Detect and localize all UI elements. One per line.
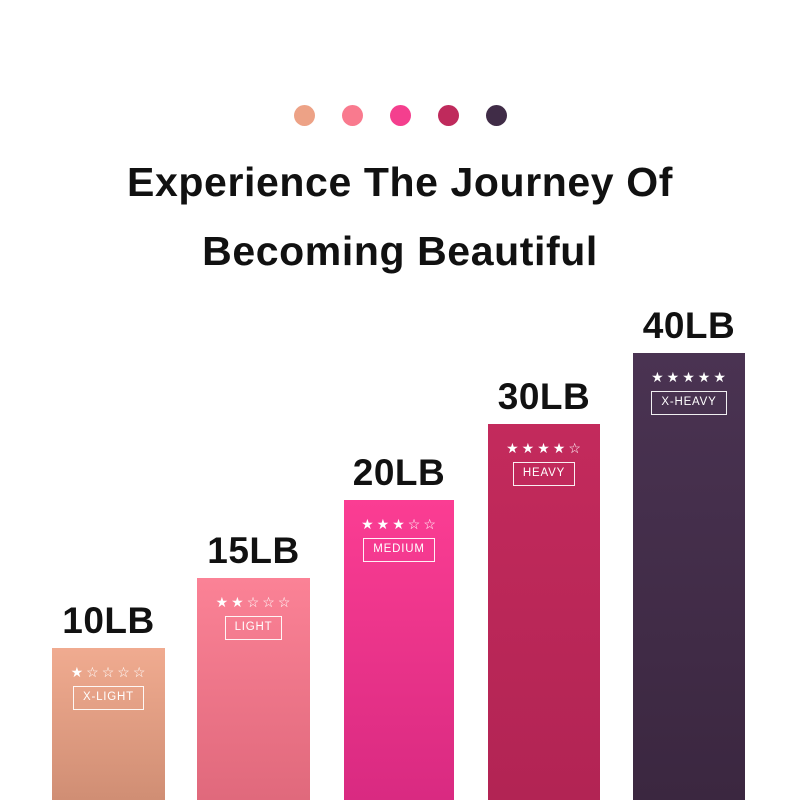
star-filled-icon: ★ bbox=[682, 370, 696, 384]
star-rating: ★★★★★ bbox=[651, 370, 727, 384]
star-filled-icon: ★ bbox=[713, 370, 727, 384]
level-badge: MEDIUM bbox=[363, 538, 434, 562]
star-filled-icon: ★ bbox=[522, 441, 536, 455]
bar-weight-label: 40LB bbox=[633, 307, 745, 344]
bar-group-30lb[interactable]: 30LB★★★★☆HEAVY bbox=[488, 424, 600, 800]
star-empty-icon: ☆ bbox=[86, 665, 100, 679]
star-filled-icon: ★ bbox=[537, 441, 551, 455]
bar-content: ★★☆☆☆LIGHT bbox=[197, 578, 310, 640]
level-badge: LIGHT bbox=[225, 616, 283, 640]
level-badge: HEAVY bbox=[513, 462, 575, 486]
bar-weight-label: 20LB bbox=[344, 454, 454, 491]
star-empty-icon: ☆ bbox=[117, 665, 131, 679]
star-filled-icon: ★ bbox=[71, 665, 85, 679]
star-empty-icon: ☆ bbox=[133, 665, 147, 679]
level-badge: X-HEAVY bbox=[651, 391, 726, 415]
star-filled-icon: ★ bbox=[651, 370, 665, 384]
star-empty-icon: ☆ bbox=[568, 441, 582, 455]
bar-content: ★★★☆☆MEDIUM bbox=[344, 500, 454, 562]
bar-light[interactable]: ★★☆☆☆LIGHT bbox=[197, 578, 310, 800]
bar-fill bbox=[633, 353, 745, 800]
bar-group-20lb[interactable]: 20LB★★★☆☆MEDIUM bbox=[344, 500, 454, 800]
star-filled-icon: ★ bbox=[377, 517, 391, 531]
star-rating: ★☆☆☆☆ bbox=[71, 665, 147, 679]
star-filled-icon: ★ bbox=[553, 441, 567, 455]
star-rating: ★★☆☆☆ bbox=[216, 595, 292, 609]
bar-medium[interactable]: ★★★☆☆MEDIUM bbox=[344, 500, 454, 800]
star-empty-icon: ☆ bbox=[278, 595, 292, 609]
infographic-root: Experience The Journey Of Becoming Beaut… bbox=[0, 0, 800, 800]
bar-weight-label: 10LB bbox=[52, 602, 165, 639]
star-filled-icon: ★ bbox=[231, 595, 245, 609]
star-filled-icon: ★ bbox=[392, 517, 406, 531]
star-empty-icon: ☆ bbox=[102, 665, 116, 679]
bar-content: ★★★★☆HEAVY bbox=[488, 424, 600, 486]
star-rating: ★★★★☆ bbox=[506, 441, 582, 455]
bar-weight-label: 15LB bbox=[197, 532, 310, 569]
bar-group-10lb[interactable]: 10LB★☆☆☆☆X-LIGHT bbox=[52, 648, 165, 800]
star-filled-icon: ★ bbox=[216, 595, 230, 609]
star-empty-icon: ☆ bbox=[408, 517, 422, 531]
star-empty-icon: ☆ bbox=[423, 517, 437, 531]
bar-weight-label: 30LB bbox=[488, 378, 600, 415]
star-empty-icon: ☆ bbox=[262, 595, 276, 609]
bar-x-heavy[interactable]: ★★★★★X-HEAVY bbox=[633, 353, 745, 800]
star-filled-icon: ★ bbox=[698, 370, 712, 384]
star-filled-icon: ★ bbox=[667, 370, 681, 384]
star-filled-icon: ★ bbox=[361, 517, 375, 531]
star-empty-icon: ☆ bbox=[247, 595, 261, 609]
bar-group-15lb[interactable]: 15LB★★☆☆☆LIGHT bbox=[197, 578, 310, 800]
bar-heavy[interactable]: ★★★★☆HEAVY bbox=[488, 424, 600, 800]
bar-x-light[interactable]: ★☆☆☆☆X-LIGHT bbox=[52, 648, 165, 800]
star-rating: ★★★☆☆ bbox=[361, 517, 437, 531]
resistance-band-bar-chart: 10LB★☆☆☆☆X-LIGHT15LB★★☆☆☆LIGHT20LB★★★☆☆M… bbox=[0, 0, 800, 800]
bar-group-40lb[interactable]: 40LB★★★★★X-HEAVY bbox=[633, 353, 745, 800]
bar-content: ★☆☆☆☆X-LIGHT bbox=[52, 648, 165, 710]
star-filled-icon: ★ bbox=[506, 441, 520, 455]
level-badge: X-LIGHT bbox=[73, 686, 144, 710]
bar-content: ★★★★★X-HEAVY bbox=[633, 353, 745, 415]
